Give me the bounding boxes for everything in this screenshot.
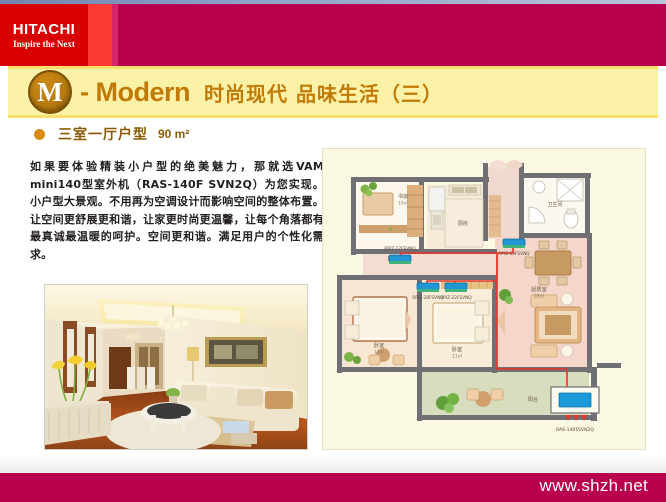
page-title-en: - Modern <box>80 77 190 108</box>
svg-text:RAS-140FSVN2Q: RAS-140FSVN2Q <box>556 427 594 433</box>
footer-url: www.shzh.net <box>540 476 648 496</box>
hitachi-logo: HITACHI Inspire the Next <box>0 4 88 66</box>
bullet-icon <box>34 129 45 140</box>
svg-text:阳台: 阳台 <box>528 396 538 403</box>
badge-letter: M <box>37 79 62 106</box>
body-paragraph: 如果要体验精装小户型的绝美魅力，那就选VAM mini140型室外机（RAS-1… <box>30 158 324 263</box>
logo-wordmark: HITACHI <box>13 22 76 37</box>
svg-text:书房: 书房 <box>398 192 408 200</box>
title-band: M - Modern 时尚现代 品味生活（三） <box>8 66 658 118</box>
header-bar: HITACHI Inspire the Next <box>0 4 666 66</box>
logo-accent-strip-2 <box>112 4 118 66</box>
svg-text:起居室: 起居室 <box>531 285 547 293</box>
floor-plan-graphic: 书房 10㎡ 厨房 <box>323 149 643 447</box>
subtitle-row: 三室一厅户型 90 m² <box>34 124 189 144</box>
svg-text:厨房: 厨房 <box>458 220 468 227</box>
page-title-cn: 时尚现代 品味生活（三） <box>204 78 443 107</box>
svg-text:10㎡: 10㎡ <box>398 200 409 207</box>
svg-text:卧室: 卧室 <box>452 345 462 353</box>
svg-text:RPIZ-63FSVNQ: RPIZ-63FSVNQ <box>498 251 530 257</box>
interior-photo <box>44 284 308 450</box>
subtitle-area: 90 m² <box>158 127 189 141</box>
svg-text:14㎡: 14㎡ <box>374 349 385 356</box>
floor-plan: 书房 10㎡ 厨房 <box>322 148 646 450</box>
svg-text:28㎡: 28㎡ <box>534 293 545 300</box>
svg-text:RPIZ-22FSVNQ: RPIZ-22FSVNQ <box>440 295 472 301</box>
interior-photo-graphic <box>45 285 307 449</box>
subtitle-label: 三室一厅户型 <box>58 124 148 144</box>
slide-root: HITACHI Inspire the Next M - Modern 时尚现代… <box>0 0 666 502</box>
svg-text:11㎡: 11㎡ <box>452 353 463 360</box>
svg-text:卧室: 卧室 <box>374 341 384 349</box>
svg-text:卫生间: 卫生间 <box>547 201 562 208</box>
logo-tagline: Inspire the Next <box>13 40 75 49</box>
logo-accent-strip <box>88 4 112 66</box>
svg-text:RPIZ-22FSVNQ: RPIZ-22FSVNQ <box>384 246 416 252</box>
modern-badge-icon: M <box>28 70 72 114</box>
